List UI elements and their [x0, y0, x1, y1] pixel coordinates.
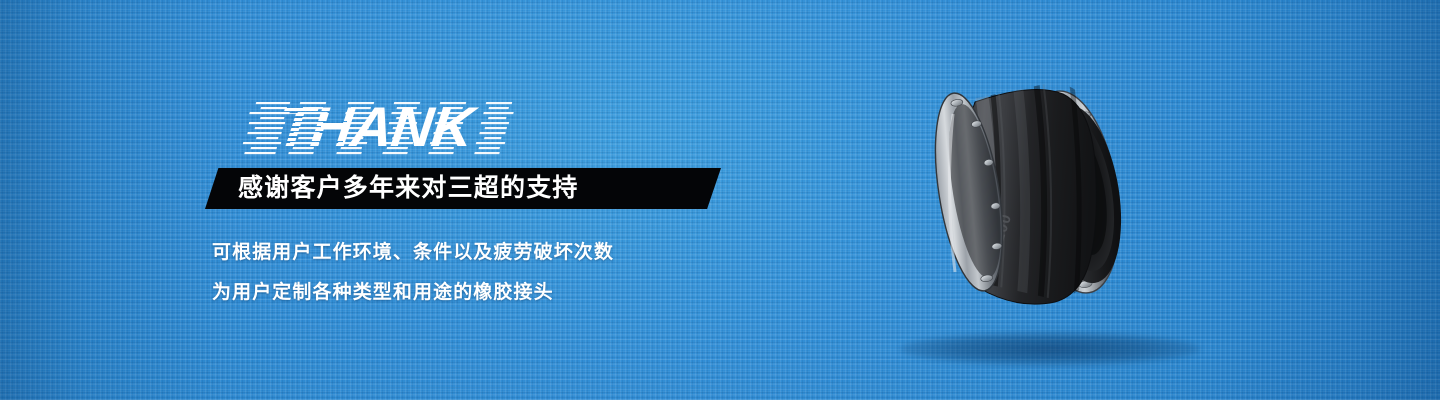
description-line-1: 可根据用户工作环境、条件以及疲劳破坏次数 — [212, 233, 732, 273]
product-image: -200 — [905, 42, 1165, 342]
thank-wordmark-art: THANK — [283, 99, 543, 157]
promo-banner: THANK 感谢客户多年来对三超的支持 可根据用户工作环境、条件以及疲劳破坏次数… — [0, 0, 1440, 400]
description-line-2: 为用户定制各种类型和用途的橡胶接头 — [212, 273, 732, 313]
description-block: 可根据用户工作环境、条件以及疲劳破坏次数 为用户定制各种类型和用途的橡胶接头 — [212, 233, 732, 313]
thank-wordmark: THANK — [283, 99, 543, 157]
rubber-expansion-joint-art: -200 — [905, 42, 1165, 342]
headline-ribbon: 感谢客户多年来对三超的支持 — [205, 168, 721, 209]
headline-ribbon-text: 感谢客户多年来对三超的支持 — [205, 168, 721, 209]
copy-column: THANK 感谢客户多年来对三超的支持 可根据用户工作环境、条件以及疲劳破坏次数… — [0, 0, 780, 400]
